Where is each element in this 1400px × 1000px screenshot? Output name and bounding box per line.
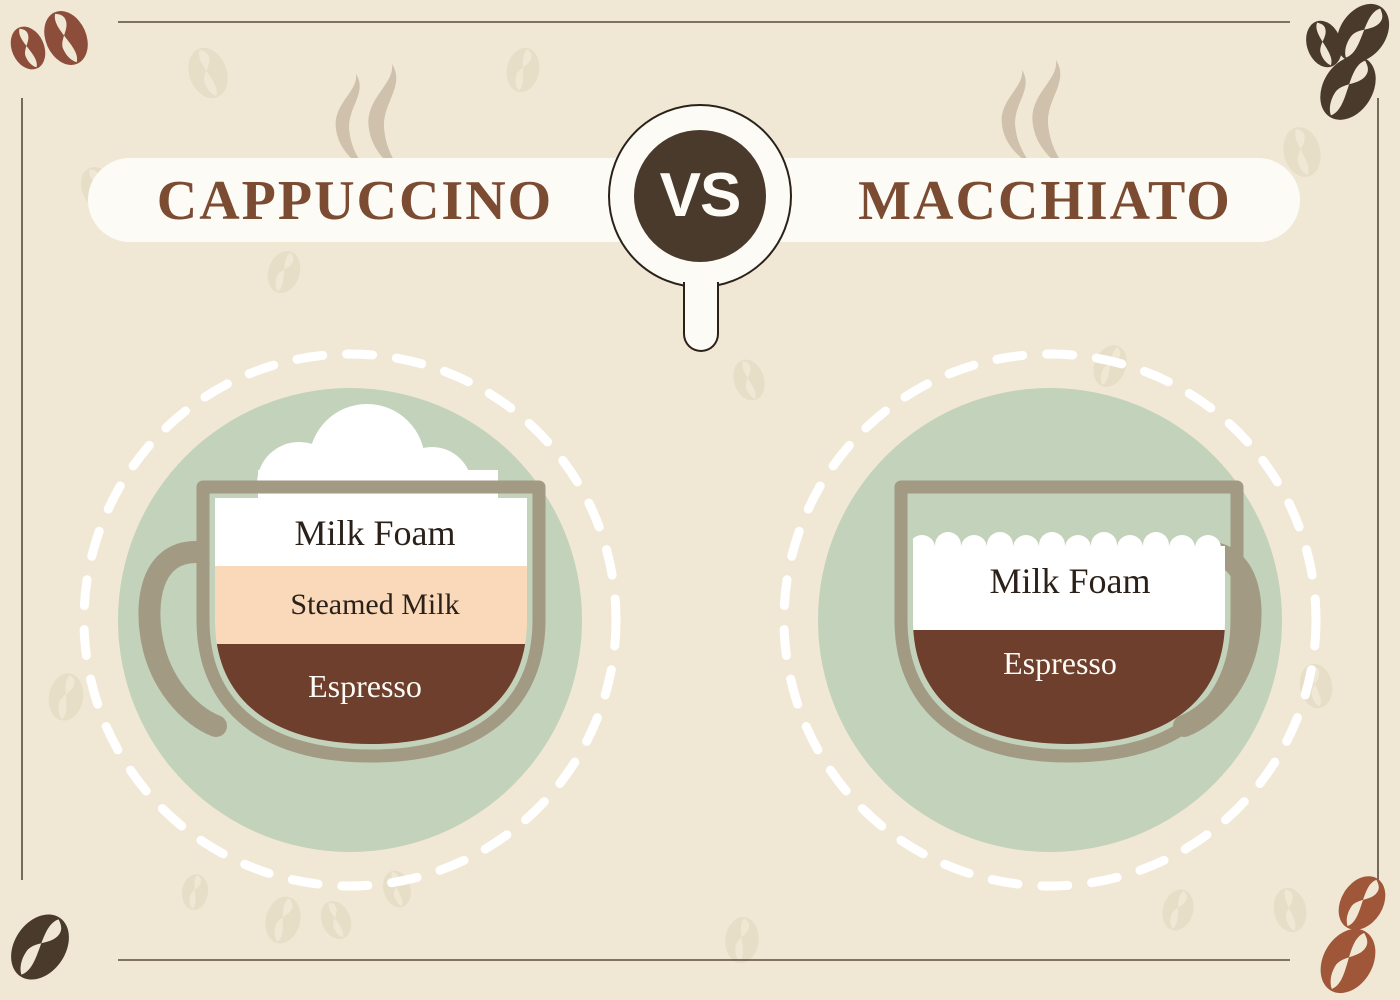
- macchiato-label-espresso: Espresso: [900, 645, 1220, 682]
- cappuccino-label-steamed-milk: Steamed Milk: [215, 588, 535, 622]
- vs-badge-stem: [683, 282, 719, 352]
- vs-label: VS: [634, 130, 766, 262]
- title-cappuccino: CAPPUCCINO: [140, 160, 570, 242]
- macchiato-label-milk-foam: Milk Foam: [910, 560, 1230, 602]
- infographic-canvas: CAPPUCCINO MACCHIATO VS Milk Foam Steame…: [0, 0, 1400, 1000]
- vs-badge: VS: [608, 104, 792, 288]
- title-macchiato: MACCHIATO: [830, 160, 1260, 242]
- cappuccino-label-espresso: Espresso: [205, 668, 525, 705]
- cappuccino-label-milk-foam: Milk Foam: [215, 512, 535, 554]
